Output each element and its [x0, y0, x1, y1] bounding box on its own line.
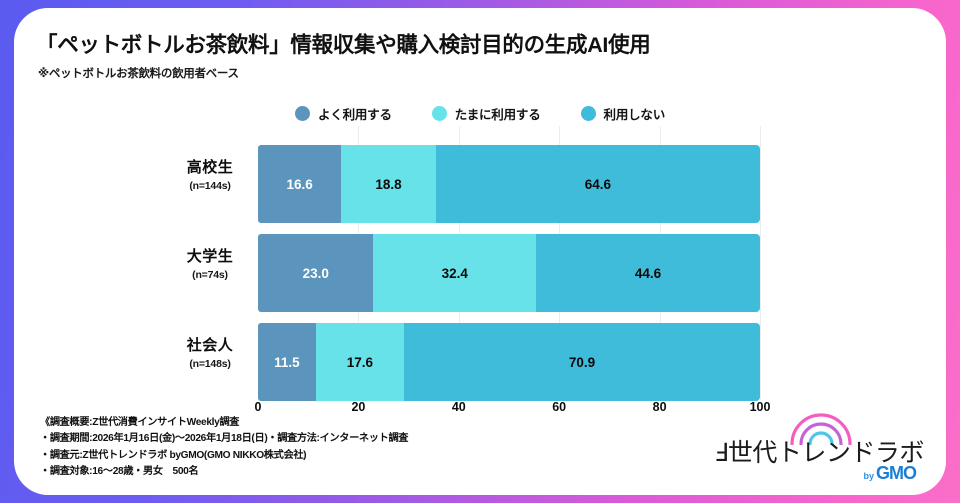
bar-segment-1-0: 23.0	[258, 234, 373, 312]
content-card: 「ペットボトルお茶飲料」情報収集や購入検討目的の生成AI使用 ※ペットボトルお茶…	[14, 8, 946, 495]
bar-0: 16.6 18.8 64.6	[258, 145, 760, 223]
category-sample-1: (n=74s)	[164, 269, 256, 281]
legend-item-0: よく利用する	[295, 104, 392, 123]
legend-item-2: 利用しない	[581, 104, 666, 123]
logo-gmo-label: GMO	[876, 463, 916, 484]
bar-2: 11.5 17.6 70.9	[258, 323, 760, 401]
legend-item-1: たまに利用する	[432, 104, 541, 123]
category-label-2: 社会人 (n=148s)	[164, 337, 256, 370]
chart-row-0: 高校生 (n=144s) 16.6 18.8 64.6	[14, 145, 946, 223]
x-tick-2: 40	[452, 400, 466, 414]
survey-footnote: 《調査概要:Z世代消費インサイトWeekly調査 ・調査期間:2026年1月16…	[40, 415, 408, 481]
category-name-1: 大学生	[164, 248, 256, 267]
infographic-frame: 「ペットボトルお茶飲料」情報収集や購入検討目的の生成AI使用 ※ペットボトルお茶…	[0, 0, 960, 503]
category-name-2: 社会人	[164, 337, 256, 356]
bar-segment-0-1: 18.8	[341, 145, 435, 223]
x-tick-4: 80	[653, 400, 667, 414]
logo-by-gmo: by GMO	[863, 463, 916, 484]
category-label-0: 高校生 (n=144s)	[164, 159, 256, 192]
stacked-bar-chart: 高校生 (n=144s) 16.6 18.8 64.6 大学生 (n=74s) …	[14, 126, 946, 426]
category-label-1: 大学生 (n=74s)	[164, 248, 256, 281]
category-name-0: 高校生	[164, 159, 256, 178]
brand-logo: Ⅎ世代トレンドラボ by GMO	[714, 411, 922, 483]
bar-segment-0-2: 64.6	[436, 145, 760, 223]
chart-legend: よく利用する たまに利用する 利用しない	[14, 104, 946, 123]
page-subtitle: ※ペットボトルお茶飲料の飲用者ベース	[38, 65, 239, 81]
footnote-line-3: ・調査元:Z世代トレンドラボ byGMO(GMO NIKKO株式会社)	[40, 448, 408, 465]
bar-1: 23.0 32.4 44.6	[258, 234, 760, 312]
legend-swatch-icon-2	[581, 106, 596, 121]
legend-label-1: たまに利用する	[455, 104, 541, 123]
category-sample-2: (n=148s)	[164, 358, 256, 370]
logo-by-label: by	[863, 471, 874, 481]
x-tick-3: 60	[552, 400, 566, 414]
footnote-line-4: ・調査対象:16～28歳・男女 500名	[40, 464, 408, 481]
bar-segment-2-0: 11.5	[258, 323, 316, 401]
legend-swatch-icon-1	[432, 106, 447, 121]
legend-label-0: よく利用する	[318, 104, 392, 123]
chart-row-1: 大学生 (n=74s) 23.0 32.4 44.6	[14, 234, 946, 312]
bar-segment-1-1: 32.4	[373, 234, 536, 312]
bar-segment-2-1: 17.6	[316, 323, 404, 401]
legend-swatch-icon-0	[295, 106, 310, 121]
x-tick-0: 0	[255, 400, 262, 414]
page-title: 「ペットボトルお茶飲料」情報収集や購入検討目的の生成AI使用	[36, 28, 651, 59]
footnote-line-1: 《調査概要:Z世代消費インサイトWeekly調査	[40, 415, 408, 432]
footnote-line-2: ・調査期間:2026年1月16日(金)～2026年1月18日(日)・調査方法:イ…	[40, 431, 408, 448]
chart-row-2: 社会人 (n=148s) 11.5 17.6 70.9	[14, 323, 946, 401]
bar-segment-1-2: 44.6	[536, 234, 760, 312]
x-tick-1: 20	[351, 400, 365, 414]
category-sample-0: (n=144s)	[164, 180, 256, 192]
bar-segment-2-2: 70.9	[404, 323, 760, 401]
legend-label-2: 利用しない	[604, 104, 666, 123]
bar-segment-0-0: 16.6	[258, 145, 341, 223]
